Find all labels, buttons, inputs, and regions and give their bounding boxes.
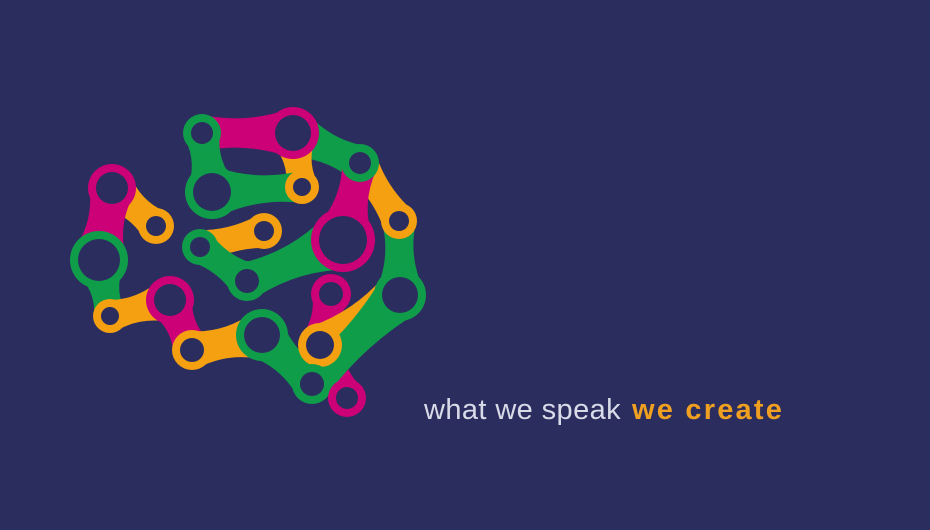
network-node bbox=[146, 276, 194, 324]
node-hole bbox=[101, 307, 119, 325]
network-node bbox=[267, 107, 319, 159]
node-hole bbox=[190, 237, 210, 257]
network-node bbox=[227, 261, 267, 301]
node-hole bbox=[191, 122, 213, 144]
network-node bbox=[182, 229, 218, 265]
brain-network-svg bbox=[60, 95, 440, 435]
network-node bbox=[328, 379, 366, 417]
network-node bbox=[285, 170, 319, 204]
node-hole bbox=[254, 221, 274, 241]
node-hole bbox=[336, 387, 358, 409]
node-hole bbox=[382, 277, 418, 313]
node-hole bbox=[300, 372, 324, 396]
node-hole bbox=[244, 317, 280, 353]
network-node bbox=[138, 208, 174, 244]
node-hole bbox=[389, 211, 409, 231]
tagline-bold-text: we create bbox=[632, 394, 784, 427]
node-hole bbox=[78, 239, 120, 281]
network-node bbox=[311, 274, 351, 314]
node-hole bbox=[180, 338, 204, 362]
node-hole bbox=[146, 216, 166, 236]
network-node bbox=[183, 114, 221, 152]
network-node bbox=[311, 208, 375, 272]
node-hole bbox=[275, 115, 311, 151]
network-node bbox=[93, 299, 127, 333]
node-hole bbox=[293, 178, 311, 196]
node-hole bbox=[235, 269, 259, 293]
network-node bbox=[236, 309, 288, 361]
network-node bbox=[88, 164, 136, 212]
node-hole bbox=[349, 152, 371, 174]
tagline: what we speak we create bbox=[424, 390, 784, 430]
network-node bbox=[341, 144, 379, 182]
network-node bbox=[381, 203, 417, 239]
tagline-light-text: what we speak bbox=[424, 394, 621, 427]
network-node bbox=[185, 165, 239, 219]
node-hole bbox=[319, 282, 343, 306]
network-node bbox=[70, 231, 128, 289]
network-nodes bbox=[70, 107, 426, 417]
network-node bbox=[292, 364, 332, 404]
node-hole bbox=[154, 284, 186, 316]
node-hole bbox=[193, 173, 231, 211]
brain-network-logo bbox=[60, 95, 440, 435]
node-hole bbox=[319, 216, 367, 264]
network-node bbox=[246, 213, 282, 249]
node-hole bbox=[96, 172, 128, 204]
network-node bbox=[172, 330, 212, 370]
network-node bbox=[374, 269, 426, 321]
slide-canvas: what we speak we create bbox=[0, 0, 930, 530]
node-hole bbox=[306, 331, 334, 359]
network-node bbox=[298, 323, 342, 367]
